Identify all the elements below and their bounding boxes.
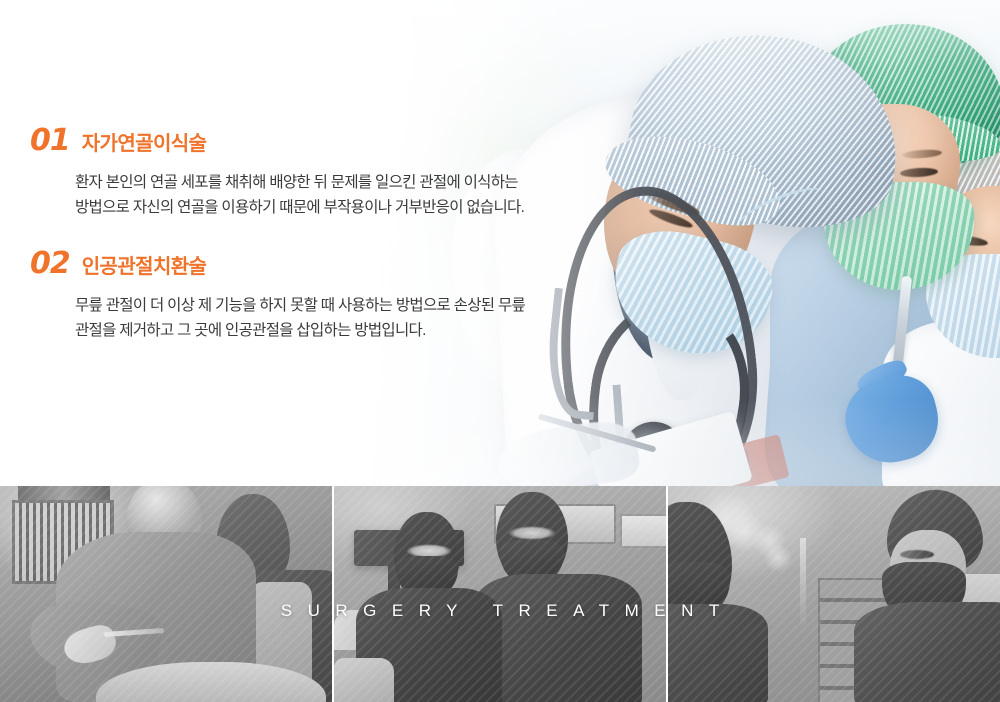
- treatment-item-01-heading: 01 자가연골이식술: [30, 126, 524, 156]
- surgeon-b-eyes: [508, 526, 556, 540]
- photo-panel-surgical-team: [334, 486, 666, 702]
- hero-photo-medical-team: [0, 0, 1000, 486]
- treatment-item-02-description-line-1: 무릎 관절이 더 이상 제 기능을 하지 못할 때 사용하는 방법으로 손상된 …: [75, 293, 525, 318]
- treatment-item-01: 01 자가연골이식술 환자 본인의 연골 세포를 채취해 배양한 뒤 문제를 일…: [30, 126, 524, 220]
- surgeon-left-gown: [668, 604, 768, 702]
- photo-panel-3-image: [668, 486, 1000, 702]
- page-root: 01 자가연골이식술 환자 본인의 연골 세포를 채취해 배양한 뒤 문제를 일…: [0, 0, 1000, 702]
- photo-panel-2-image: [334, 486, 666, 702]
- iv-pole: [800, 538, 806, 628]
- photo-panel-1-image: [0, 486, 332, 702]
- hero-section: 01 자가연골이식술 환자 본인의 연골 세포를 채취해 배양한 뒤 문제를 일…: [0, 0, 1000, 486]
- wall-monitor: [620, 514, 666, 548]
- treatment-item-01-description: 환자 본인의 연골 세포를 채취해 배양한 뒤 문제를 일으킨 관절에 이식하는…: [75, 170, 524, 220]
- treatment-item-01-description-line-1: 환자 본인의 연골 세포를 채취해 배양한 뒤 문제를 일으킨 관절에 이식하는: [75, 170, 524, 195]
- bokeh-light: [764, 544, 792, 572]
- hero-vertical-fade-overlay: [0, 0, 1000, 486]
- surgeon-right-gown: [854, 602, 1000, 702]
- treatment-item-02-title: 인공관절치환술: [82, 257, 207, 277]
- treatment-item-02: 02 인공관절치환술 무릎 관절이 더 이상 제 기능을 하지 못할 때 사용하…: [30, 249, 525, 343]
- surgeon-right-eye: [900, 550, 934, 559]
- treatment-item-02-number: 02: [30, 249, 70, 279]
- treatment-item-01-description-line-2: 방법으로 자신의 연골을 이용하기 때문에 부작용이나 거부반응이 없습니다.: [75, 195, 524, 220]
- treatment-item-02-heading: 02 인공관절치환술: [30, 249, 525, 279]
- treatment-item-01-number: 01: [30, 126, 70, 156]
- treatment-item-02-description: 무릎 관절이 더 이상 제 기능을 하지 못할 때 사용하는 방법으로 손상된 …: [75, 293, 525, 343]
- treatment-item-01-title: 자가연골이식술: [82, 134, 207, 154]
- treatment-item-02-description-line-2: 관절을 제거하고 그 곳에 인공관절을 삽입하는 방법입니다.: [75, 318, 525, 343]
- wall-frame: [18, 486, 110, 500]
- photo-panel-surgeons-profile: [668, 486, 1000, 702]
- operating-bed: [334, 658, 394, 702]
- photo-strip: [0, 486, 1000, 702]
- photo-panel-operating-room: [0, 486, 332, 702]
